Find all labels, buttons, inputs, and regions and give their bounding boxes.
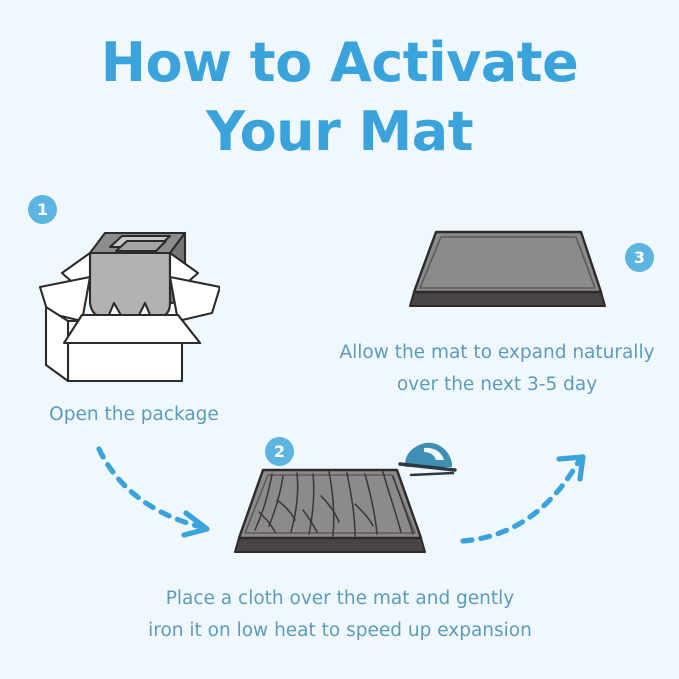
caption-3-line-2: over the next 3-5 day [315, 369, 679, 401]
caption-2-line-1: Place a cloth over the mat and gently [105, 583, 575, 615]
step-caption-1: Open the package [0, 399, 268, 431]
step-badge-1: 1 [28, 195, 57, 224]
cardboard-box-icon [30, 225, 220, 395]
arrow-step1-to-step2 [85, 435, 235, 550]
caption-3-line-1: Allow the mat to expand naturally [315, 337, 679, 369]
step-badge-3: 3 [625, 243, 654, 272]
step-caption-3: Allow the mat to expand naturally over t… [315, 337, 679, 401]
arrow-step2-to-step3 [455, 445, 605, 560]
page-title: How to Activate Your Mat [0, 28, 679, 166]
flat-mat-icon [400, 220, 615, 325]
title-line-1: How to Activate [0, 28, 679, 97]
step-caption-2: Place a cloth over the mat and gently ir… [105, 583, 575, 647]
caption-2-line-2: iron it on low heat to speed up expansio… [105, 615, 575, 647]
caption-1-line-1: Open the package [0, 399, 268, 431]
iron-icon [395, 437, 457, 488]
title-line-2: Your Mat [0, 97, 679, 166]
infographic-canvas: How to Activate Your Mat 1 [0, 0, 679, 679]
